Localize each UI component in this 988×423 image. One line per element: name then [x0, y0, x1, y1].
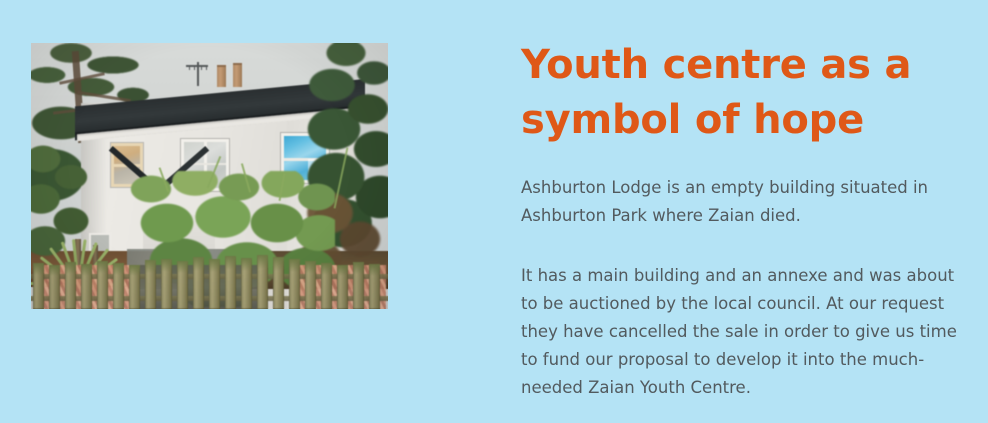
fence-picket — [369, 264, 380, 309]
fence-picket — [65, 262, 76, 309]
body-paragraph-1: Ashburton Lodge is an empty building sit… — [521, 174, 957, 230]
fence-picket — [337, 265, 348, 309]
fence-picket — [257, 255, 268, 309]
chimney-pot — [217, 65, 226, 87]
text-column: Youth centre as a symbol of hope Ashburt… — [521, 0, 988, 402]
ashburton-lodge-photo — [31, 43, 388, 309]
chimney-pot — [233, 63, 242, 87]
fence-picket — [81, 264, 92, 309]
fence-picket — [129, 265, 140, 309]
fence-picket — [145, 260, 156, 309]
tv-aerial-tine — [194, 65, 195, 70]
fence-picket — [33, 263, 44, 309]
fence-picket — [209, 259, 220, 309]
article-section: Youth centre as a symbol of hope Ashburt… — [0, 0, 988, 423]
media-column — [0, 0, 521, 309]
fence-picket — [49, 265, 60, 309]
fence-picket — [225, 256, 236, 309]
content-row: Youth centre as a symbol of hope Ashburt… — [0, 0, 988, 423]
fence-picket — [289, 259, 300, 309]
fence-picket — [273, 257, 284, 309]
tv-aerial-tine — [201, 65, 202, 70]
body-paragraph-2: It has a main building and an annexe and… — [521, 262, 957, 402]
fence-picket — [177, 261, 188, 309]
fence-picket — [113, 263, 124, 309]
tv-aerial-tine — [189, 65, 190, 70]
fence-picket — [241, 258, 252, 309]
page-title: Youth centre as a symbol of hope — [521, 38, 921, 148]
fence-picket — [161, 259, 172, 309]
fence-picket — [305, 261, 316, 309]
fence-picket — [193, 257, 204, 309]
picket-fence — [31, 251, 388, 309]
photo-figure — [31, 43, 388, 309]
fence-picket — [353, 262, 364, 309]
fence-picket — [97, 261, 108, 309]
fence-picket — [321, 263, 332, 309]
tv-aerial-tine — [206, 65, 207, 70]
